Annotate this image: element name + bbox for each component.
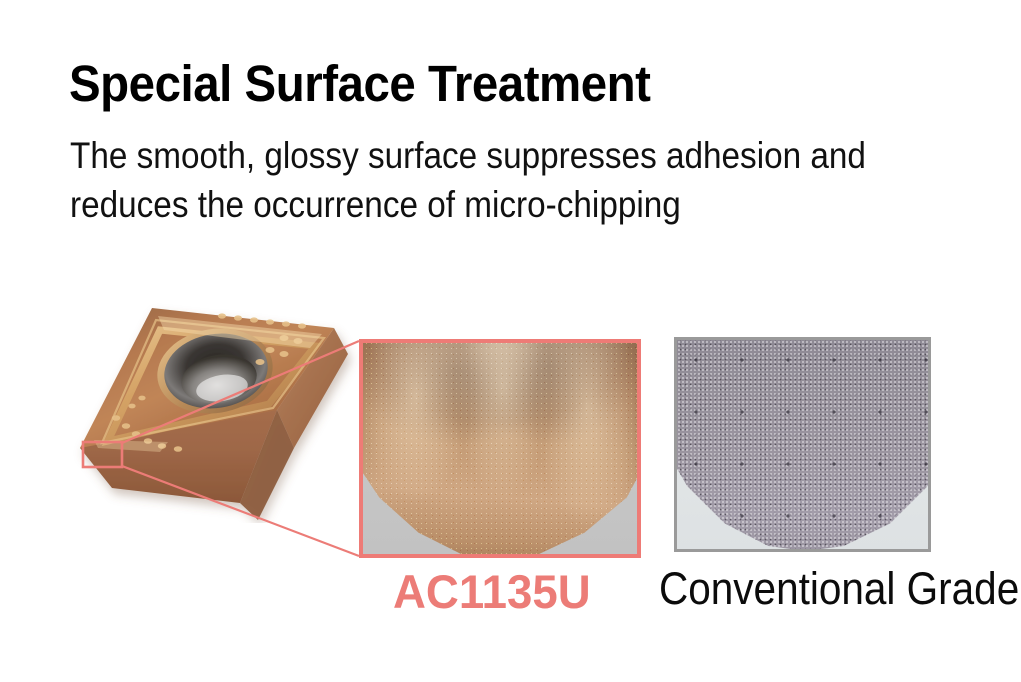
surface-treatment-figure: Special Surface Treatment The smooth, gl… [0, 0, 1021, 682]
ac1135u-photo [363, 343, 637, 554]
insert-photo [72, 258, 362, 523]
rhombic-carbide-insert-graphic [72, 258, 362, 523]
page-title: Special Surface Treatment [69, 57, 651, 111]
caption-ac1135u: AC1135U [393, 568, 591, 615]
caption-conventional-grade: Conventional Grade [659, 566, 1019, 611]
insert-body [80, 308, 348, 520]
conventional-photo [677, 340, 928, 549]
conventional-photo-panel [674, 337, 931, 552]
page-subtitle: The smooth, glossy surface suppresses ad… [70, 131, 866, 229]
ac1135u-photo-panel [359, 339, 641, 558]
